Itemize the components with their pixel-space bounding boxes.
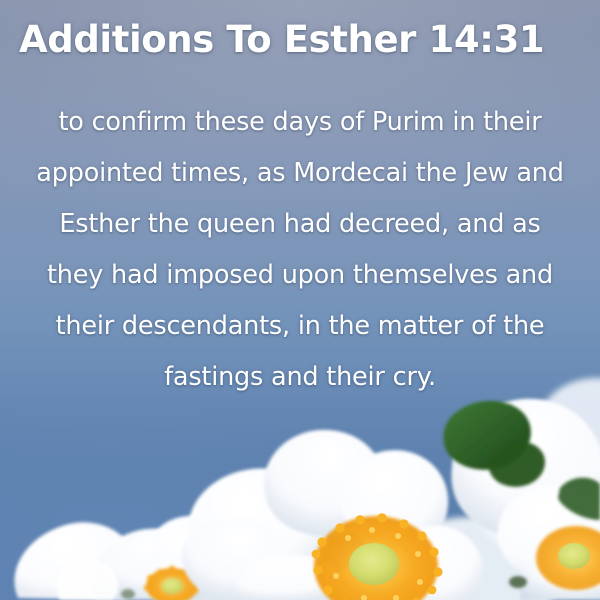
- verse-card: Additions To Esther 14:31 to confirm the…: [0, 0, 600, 600]
- verse-text: to confirm these days of Purim in their …: [30, 97, 570, 403]
- text-layer: Additions To Esther 14:31 to confirm the…: [0, 0, 600, 600]
- page-title: Additions To Esther 14:31: [19, 17, 579, 63]
